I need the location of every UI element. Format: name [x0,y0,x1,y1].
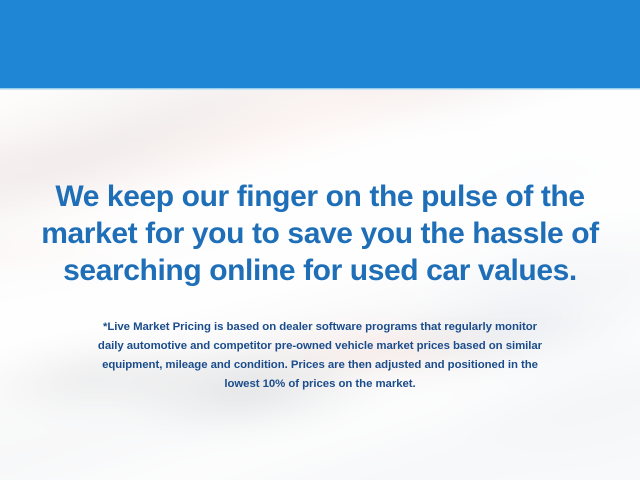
disclaimer-line-2: daily automotive and competitor pre-owne… [28,337,612,356]
headline-line-2: market for you to save you the hassle of [28,215,612,252]
headline-line-1: We keep our finger on the pulse of the [28,178,612,215]
headline-line-3: searching online for used car values. [28,252,612,289]
disclaimer-line-4: lowest 10% of prices on the market. [28,375,612,394]
disclaimer-line-1: *Live Market Pricing is based on dealer … [28,318,612,337]
disclaimer-line-3: equipment, mileage and condition. Prices… [28,356,612,375]
disclaimer-block: *Live Market Pricing is based on dealer … [28,318,612,394]
promo-banner: Live Market Pricing* We keep our finger … [0,0,640,480]
header-bar [0,0,640,88]
header-divider [0,88,640,90]
headline-block: We keep our finger on the pulse of the m… [28,178,612,289]
